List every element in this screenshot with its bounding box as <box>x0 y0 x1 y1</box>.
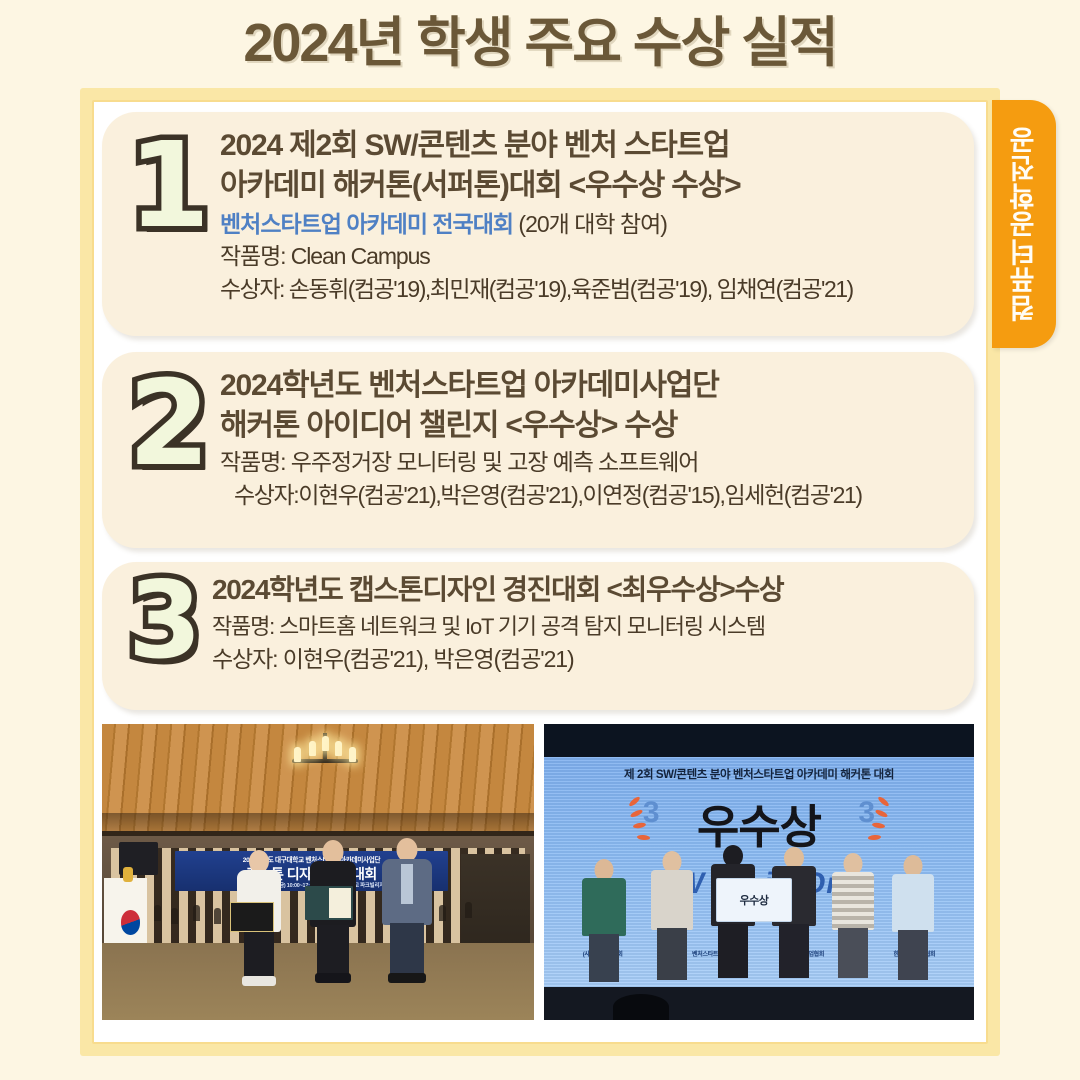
person-center <box>305 840 361 990</box>
stage-person-5 <box>828 853 878 987</box>
ceiling-shadow <box>102 813 534 837</box>
award-2-heading-line2: 해커톤 아이디어 챌린지 <우수상> 수상 <box>220 406 958 446</box>
award-plaque-left <box>230 902 274 932</box>
photo-capstone-ceremony[interactable]: 2024학년도 대구대학교 벤처스타트업아카데미사업단 캡스톤 디자인 경진대회… <box>102 724 534 1020</box>
screen-title: 제 2회 SW/콘텐츠 분야 벤처스타트업 아카데미 해커톤 대회 <box>544 766 974 782</box>
stage-person-6 <box>888 855 938 987</box>
stage-top <box>544 724 974 757</box>
department-tab[interactable]: 컴퓨터공학전공 <box>992 100 1056 348</box>
certificate-folder <box>305 886 353 920</box>
award-2-work-title: 작품명: 우주정거장 모니터링 및 고장 예측 소프트웨어 <box>220 446 958 479</box>
award-1-winners: 수상자: 손동휘(컴공'19),최민재(컴공'19),육준범(컴공'19), 임… <box>220 273 958 306</box>
rank-number-3: 3 <box>128 568 202 674</box>
stage-floor <box>544 987 974 1020</box>
rank-number-2: 2 <box>128 364 210 482</box>
award-card-2[interactable]: 2 2024학년도 벤처스타트업 아카데미사업단 해커톤 아이디어 챌린지 <우… <box>102 352 974 548</box>
award-1-heading-line1: 2024 제2회 SW/콘텐츠 분야 벤처 스타트업 <box>220 126 958 166</box>
photo-hackathon-ceremony[interactable]: 제 2회 SW/콘텐츠 분야 벤처스타트업 아카데미 해커톤 대회 3 3 우수… <box>544 724 974 1020</box>
award-card-3-body: 2024학년도 캡스톤디자인 경진대회 <최우수상>수상 작품명: 스마트홈 네… <box>212 570 958 676</box>
award-card-2-body: 2024학년도 벤처스타트업 아카데미사업단 해커톤 아이디어 챌린지 <우수상… <box>220 366 958 512</box>
rank-number-1: 1 <box>128 126 210 244</box>
award-card-1-body: 2024 제2회 SW/콘텐츠 분야 벤처 스타트업 아카데미 해커톤(서퍼톤)… <box>220 126 958 306</box>
person-right <box>378 838 436 990</box>
page-title: 2024년 학생 주요 수상 실적 <box>0 6 1080 80</box>
stage-person-1 <box>578 859 630 987</box>
award-3-work-title: 작품명: 스마트홈 네트워크 및 IoT 기기 공격 탐지 모니터링 시스템 <box>212 610 958 643</box>
audience-silhouette <box>613 994 669 1020</box>
award-1-subtitle: 벤처스타트업 아카데미 전국대회 (20개 대학 참여) <box>220 208 958 240</box>
person-left <box>232 850 286 990</box>
chandelier-icon <box>292 733 358 783</box>
award-1-subtitle-rest: (20개 대학 참여) <box>513 211 667 237</box>
award-2-winners: 수상자:이현우(컴공'21),박은영(컴공'21),이연정(컴공'15),임세헌… <box>220 479 958 512</box>
award-2-heading-line1: 2024학년도 벤처스타트업 아카데미사업단 <box>220 366 958 406</box>
award-1-heading-line2: 아카데미 해커톤(서퍼톤)대회 <우수상 수상> <box>220 166 958 206</box>
plaque-text: 우수상 <box>740 892 769 908</box>
award-card-3[interactable]: 3 2024학년도 캡스톤디자인 경진대회 <최우수상>수상 작품명: 스마트홈… <box>102 562 974 710</box>
stage-person-2 <box>647 851 697 987</box>
award-1-subtitle-highlight: 벤처스타트업 아카데미 전국대회 <box>220 211 513 237</box>
award-card-1[interactable]: 1 2024 제2회 SW/콘텐츠 분야 벤처 스타트업 아카데미 해커톤(서퍼… <box>102 112 974 336</box>
award-plaque-right: 우수상 <box>716 878 792 922</box>
department-tab-label: 컴퓨터공학전공 <box>992 100 1056 348</box>
award-1-work-title: 작품명: Clean Campus <box>220 240 958 273</box>
award-3-heading-line1: 2024학년도 캡스톤디자인 경진대회 <최우수상>수상 <box>212 570 958 610</box>
awards-content: 1 2024 제2회 SW/콘텐츠 분야 벤처 스타트업 아카데미 해커톤(서퍼… <box>96 104 984 1040</box>
photo-gallery: 2024학년도 대구대학교 벤처스타트업아카데미사업단 캡스톤 디자인 경진대회… <box>102 724 974 1020</box>
award-3-winners: 수상자: 이현우(컴공'21), 박은영(컴공'21) <box>212 643 958 676</box>
